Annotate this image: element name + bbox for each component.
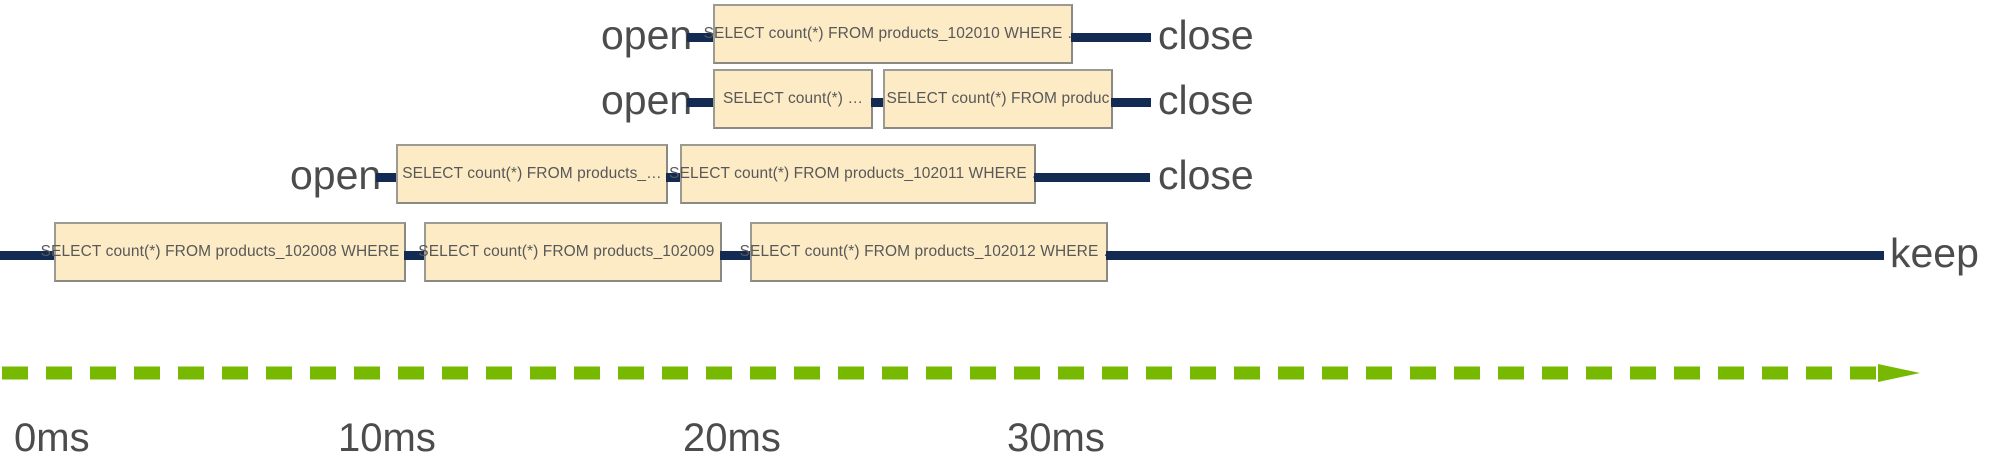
row-2-query-box-2[interactable]: SELECT count(*) FROM produc xyxy=(883,69,1113,129)
row-3-close-label: close xyxy=(1158,155,1254,196)
row-1-query-box-1[interactable]: SELECT count(*) FROM products_102010 WHE… xyxy=(713,4,1073,64)
row-2-query-box-1[interactable]: SELECT count(*) … xyxy=(713,69,873,129)
timeline-row-4: SELECT count(*) FROM products_102008 WHE… xyxy=(0,218,2000,328)
time-axis-arrow xyxy=(0,364,1935,390)
row-4-connector-tail xyxy=(1484,251,1884,260)
row-3-query-text-2: SELECT count(*) FROM products_102011 WHE… xyxy=(669,165,1047,183)
row-3-open-label: open xyxy=(290,155,381,196)
axis-tick-30ms: 30ms xyxy=(1007,418,1105,458)
row-4-query-text-3: SELECT count(*) FROM products_102012 WHE… xyxy=(740,243,1119,261)
row-4-query-box-1[interactable]: SELECT count(*) FROM products_102008 WHE… xyxy=(54,222,406,282)
row-2-close-label: close xyxy=(1158,80,1254,121)
row-4-query-box-2[interactable]: SELECT count(*) FROM products_102009 .. xyxy=(424,222,722,282)
row-2-connector-left xyxy=(687,98,715,107)
row-4-query-text-1: SELECT count(*) FROM products_102008 WHE… xyxy=(41,243,420,261)
timeline-diagram: open SELECT count(*) FROM products_10201… xyxy=(0,0,2000,476)
row-1-open-label: open xyxy=(601,15,692,56)
row-4-query-text-2: SELECT count(*) FROM products_102009 .. xyxy=(418,243,727,261)
row-1-connector-right xyxy=(1071,33,1151,42)
row-3-query-text-1: SELECT count(*) FROM products_… xyxy=(402,165,662,183)
row-4-query-box-3[interactable]: SELECT count(*) FROM products_102012 WHE… xyxy=(750,222,1108,282)
axis-tick-0ms: 0ms xyxy=(14,418,90,458)
row-3-query-box-1[interactable]: SELECT count(*) FROM products_… xyxy=(396,144,668,204)
row-4-keep-label: keep xyxy=(1890,233,1979,274)
row-2-query-text-1: SELECT count(*) … xyxy=(723,90,863,108)
row-2-connector-right xyxy=(1111,98,1151,107)
axis-tick-20ms: 20ms xyxy=(683,418,781,458)
axis-tick-10ms: 10ms xyxy=(338,418,436,458)
right-arrow-icon xyxy=(1878,364,1920,382)
row-1-close-label: close xyxy=(1158,15,1254,56)
row-2-query-text-2: SELECT count(*) FROM produc xyxy=(887,90,1110,108)
row-3-connector-right xyxy=(1034,173,1150,182)
row-4-connector-right xyxy=(1106,251,1486,260)
row-1-query-text-1: SELECT count(*) FROM products_102010 WHE… xyxy=(704,25,1083,43)
row-3-query-box-2[interactable]: SELECT count(*) FROM products_102011 WHE… xyxy=(680,144,1036,204)
row-2-open-label: open xyxy=(601,80,692,121)
